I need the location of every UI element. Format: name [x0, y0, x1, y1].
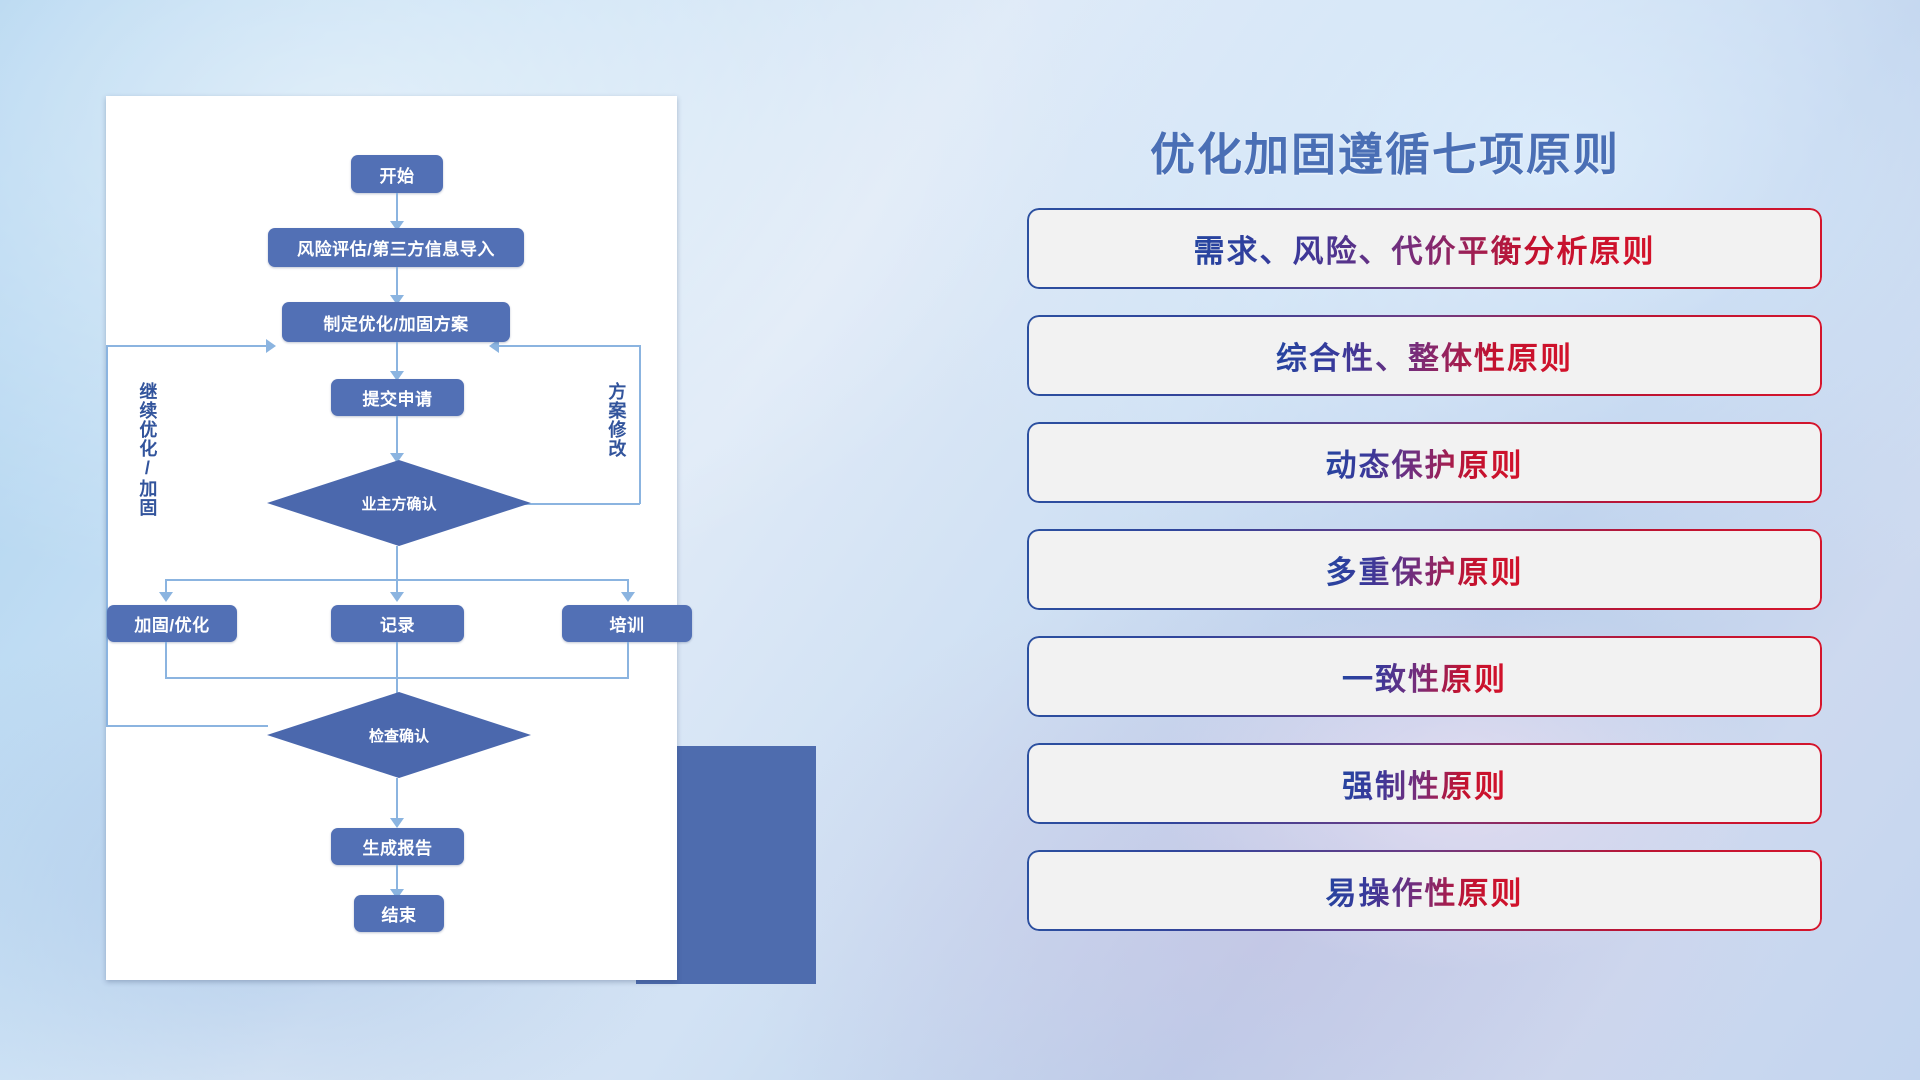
flow-node-start[interactable]: 开始 [351, 155, 443, 193]
principle-item-3-box: 动态保护原则 [1027, 422, 1822, 503]
principle-item-7[interactable]: 易操作性原则 [1027, 850, 1822, 931]
flow-node-training[interactable]: 培训 [562, 605, 692, 642]
principle-item-2-box: 综合性、整体性原则 [1027, 315, 1822, 396]
principle-item-4-box: 多重保护原则 [1027, 529, 1822, 610]
panel-title: 优化加固遵循七项原则 [1150, 118, 1620, 183]
principle-item-5[interactable]: 一致性原则 [1027, 636, 1822, 717]
principles-list: 需求、风险、代价平衡分析原则 综合性、整体性原则 动态保护原则 多重保护原则 [1027, 208, 1822, 957]
connector-split-left-arrow [159, 592, 173, 602]
principle-item-5-box: 一致性原则 [1027, 636, 1822, 717]
flow-node-check-confirm[interactable]: 检查确认 [267, 692, 531, 778]
principles-panel: 优化加固遵循七项原则 需求、风险、代价平衡分析原则 综合性、整体性原则 动态保护… [1020, 90, 1840, 1020]
principle-item-2[interactable]: 综合性、整体性原则 [1027, 315, 1822, 396]
flow-node-risk-assessment[interactable]: 风险评估/第三方信息导入 [268, 228, 524, 267]
loop-left-arrowhead [266, 339, 276, 353]
principle-item-7-label: 易操作性原则 [1326, 868, 1524, 913]
flow-node-end[interactable]: 结束 [354, 895, 444, 932]
principle-item-4-label: 多重保护原则 [1326, 547, 1524, 592]
principle-item-6[interactable]: 强制性原则 [1027, 743, 1822, 824]
connector-approval-down [396, 546, 398, 579]
edge-label-continue-optimize: 继续优化/加固 [138, 382, 156, 517]
flow-node-generate-report[interactable]: 生成报告 [331, 828, 464, 865]
principle-item-4[interactable]: 多重保护原则 [1027, 529, 1822, 610]
flow-node-check-confirm-label: 检查确认 [369, 725, 429, 746]
edge-label-plan-revision: 方案修改 [607, 382, 625, 458]
flow-node-submit-application[interactable]: 提交申请 [331, 379, 464, 416]
loop-left-vertical [106, 345, 108, 726]
principle-item-3[interactable]: 动态保护原则 [1027, 422, 1822, 503]
principle-item-6-label: 强制性原则 [1342, 761, 1507, 806]
connector-check-to-report-arrow [390, 818, 404, 828]
flow-node-record[interactable]: 记录 [331, 605, 464, 642]
loop-right-top-horizontal [499, 345, 640, 347]
connector-split-mid-arrow [390, 592, 404, 602]
flow-node-owner-approval[interactable]: 业主方确认 [267, 460, 531, 546]
flowchart-card: 继续优化/加固 方案修改 开始 风险评估/第三方信息导入 制定优化/加固方案 提… [106, 96, 677, 980]
flow-node-reinforce-optimize[interactable]: 加固/优化 [107, 605, 237, 642]
principle-item-7-box: 易操作性原则 [1027, 850, 1822, 931]
principle-item-1-box: 需求、风险、代价平衡分析原则 [1027, 208, 1822, 289]
loop-left-top-horizontal [106, 345, 268, 347]
principle-item-2-label: 综合性、整体性原则 [1276, 333, 1573, 378]
loop-right-vertical [639, 345, 641, 504]
principle-item-5-label: 一致性原则 [1342, 654, 1507, 699]
principle-item-1[interactable]: 需求、风险、代价平衡分析原则 [1027, 208, 1822, 289]
loop-left-bottom-horizontal [106, 725, 268, 727]
flow-node-owner-approval-label: 业主方确认 [361, 493, 436, 514]
principle-item-3-label: 动态保护原则 [1326, 440, 1524, 485]
connector-merge-right [627, 642, 629, 679]
connector-split-right-arrow [621, 592, 635, 602]
flow-node-plan[interactable]: 制定优化/加固方案 [282, 302, 510, 342]
connector-merge-left [165, 642, 167, 679]
principle-item-1-label: 需求、风险、代价平衡分析原则 [1194, 226, 1656, 271]
principle-item-6-box: 强制性原则 [1027, 743, 1822, 824]
slide-root: 继续优化/加固 方案修改 开始 风险评估/第三方信息导入 制定优化/加固方案 提… [0, 0, 1920, 1080]
